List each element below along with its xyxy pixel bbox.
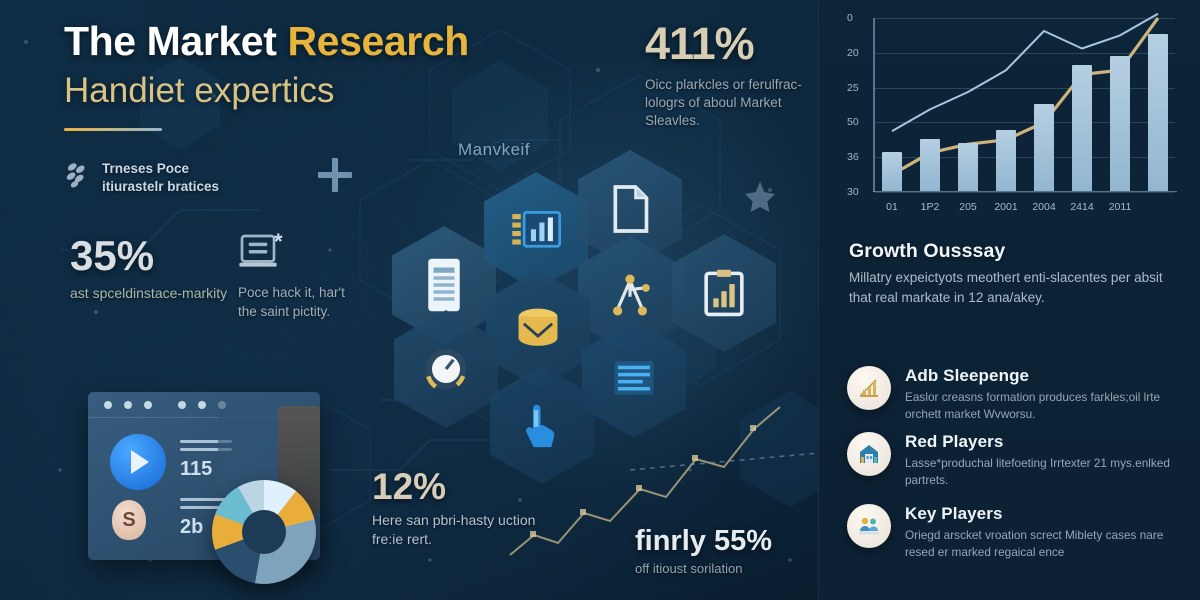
intro-line-1: Trneses Poce	[102, 160, 219, 178]
stat-12-value: 12%	[372, 466, 547, 508]
right-panel: 02025503630011P22052001200424142011 Grow…	[818, 0, 1200, 600]
chart-x-tick: 01	[886, 201, 898, 213]
chart-x-tick: 1P2	[921, 201, 940, 213]
badge-letter-icon: S	[112, 500, 146, 540]
bullet-item-key-players[interactable]: Key Players Oriegd arscket vroation scre…	[847, 504, 1187, 561]
bullet-title: Red Players	[905, 432, 1187, 452]
book-stat-caption: Poce hack it, har't the saint pictity.	[238, 283, 348, 321]
chart-y-tick: 36	[847, 151, 859, 163]
chart-gridline	[875, 192, 1175, 193]
growth-bar-chart: 02025503630011P22052001200424142011	[839, 12, 1183, 218]
infographic-root: The Market Research Handiet expertics Tr…	[0, 0, 1200, 600]
building-icon	[847, 432, 891, 476]
hex-tile-gauge	[394, 310, 498, 428]
chart-gridline	[875, 53, 1175, 54]
chart-bar	[996, 130, 1016, 191]
stat-411-caption: Oicc plarkcles or ferulfrac- lologrs of …	[645, 76, 835, 130]
page-title-block: The Market Research Handiet expertics	[64, 16, 584, 131]
chart-y-tick: 25	[847, 82, 859, 94]
book-stat-block: * Poce hack it, har't the saint pictity.	[238, 233, 348, 321]
people-group-icon	[847, 504, 891, 548]
bullet-text: Adb Sleepenge Easlor creasns formation p…	[905, 366, 1187, 423]
bullet-desc: Oriegd arscket vroation screct Miblety c…	[905, 527, 1187, 561]
page-title-plain: The Market	[64, 18, 287, 64]
growth-summary: Growth Ousssay Millatry expeictyots meot…	[849, 240, 1179, 308]
intro-text: Trneses Poce itiurastelr bratices	[102, 160, 219, 196]
chart-y-tick: 50	[847, 116, 859, 128]
bullet-text: Key Players Oriegd arscket vroation scre…	[905, 504, 1187, 561]
chart-gridline	[875, 122, 1175, 123]
chart-bar	[958, 143, 978, 191]
bullet-item-adb-sleepenge[interactable]: Adb Sleepenge Easlor creasns formation p…	[847, 366, 1187, 423]
stat-411-block: 411% Oicc plarkcles or ferulfrac- lologr…	[645, 18, 835, 130]
chart-bar	[1034, 104, 1054, 191]
asterisk-icon: *	[274, 229, 283, 255]
chart-bar	[1148, 34, 1168, 191]
bar-chart-icon	[847, 366, 891, 410]
window-dot	[198, 401, 206, 409]
bullet-desc: Lasse*produchal litefoeting Irrtexter 21…	[905, 455, 1187, 489]
page-subtitle: Handiet expertics	[64, 68, 584, 114]
chart-x-tick: 2414	[1070, 201, 1093, 213]
book-icon: *	[238, 233, 280, 273]
dashboard-metric-2: 2b	[180, 516, 203, 539]
window-dot	[144, 401, 152, 409]
chart-y-tick: 20	[847, 47, 859, 59]
stat-12-block: 12% Here san pbri-hasty uction fre:ie re…	[372, 466, 547, 549]
cluster-label: Manvkeif	[458, 140, 530, 160]
donut-chart-icon	[212, 480, 316, 584]
bullet-desc: Easlor creasns formation produces farkle…	[905, 389, 1187, 423]
stat-55-block: finrly 55% off itioust sorilation	[635, 525, 835, 577]
bar-chart-window-icon	[510, 209, 562, 253]
plus-icon	[318, 158, 352, 192]
bullet-title: Adb Sleepenge	[905, 366, 1187, 386]
growth-body: Millatry expeictyots meothert enti-slace…	[849, 268, 1179, 308]
hex-tile-report	[672, 234, 776, 352]
node-network-icon	[607, 270, 653, 320]
document-page-icon	[608, 185, 652, 233]
chart-gridline	[875, 88, 1175, 89]
chart-bar	[920, 139, 940, 191]
page-title-accent: Research	[287, 18, 468, 64]
intro-line-2: itiurastelr bratices	[102, 178, 219, 196]
chart-gridline	[875, 18, 1175, 19]
chart-x-tick: 2001	[994, 201, 1017, 213]
chart-x-tick: 2011	[1109, 201, 1132, 213]
bullet-title: Key Players	[905, 504, 1187, 524]
stat-12-caption: Here san pbri-hasty uction fre:ie rert.	[372, 511, 547, 549]
database-icon	[512, 306, 564, 352]
network-nodes-icon	[64, 160, 92, 190]
window-dot	[178, 401, 186, 409]
window-dot	[104, 401, 112, 409]
bullet-item-red-players[interactable]: Red Players Lasse*produchal litefoeting …	[847, 432, 1187, 489]
chart-bar	[882, 152, 902, 191]
chart-y-tick: 0	[847, 12, 853, 24]
background-dotted-line	[630, 430, 830, 500]
stat-55-caption: off itioust sorilation	[635, 560, 835, 577]
dashboard-metric-1: 115	[180, 458, 212, 481]
intro-row: Trneses Poce itiurastelr bratices	[64, 160, 334, 196]
bullet-text: Red Players Lasse*produchal litefoeting …	[905, 432, 1187, 489]
stat-411-value: 411%	[645, 18, 835, 70]
chart-x-tick: 205	[959, 201, 977, 213]
stat-55-value: finrly 55%	[635, 525, 835, 558]
chart-x-tick: 2004	[1032, 201, 1055, 213]
gauge-icon	[422, 345, 470, 393]
page-title: The Market Research	[64, 16, 584, 66]
chart-bar	[1072, 65, 1092, 191]
clipboard-chart-icon	[702, 268, 746, 318]
title-underline-rule	[64, 128, 162, 131]
chart-y-tick: 30	[847, 186, 859, 198]
growth-heading: Growth Ousssay	[849, 240, 1179, 263]
server-rack-icon	[423, 257, 465, 313]
window-dot	[124, 401, 132, 409]
chart-bar	[1110, 56, 1130, 191]
play-button-icon[interactable]	[110, 434, 166, 490]
